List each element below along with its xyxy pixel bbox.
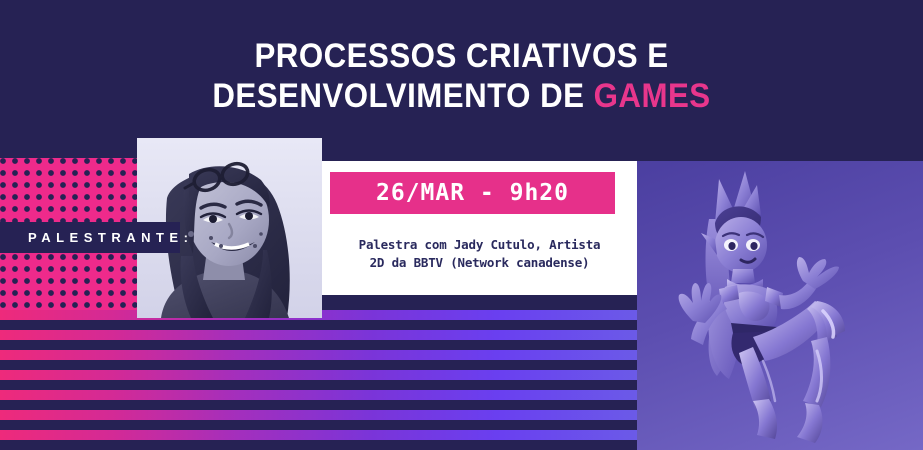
headline-line-1: PROCESSOS CRIATIVOS E xyxy=(37,36,886,76)
page-title: PROCESSOS CRIATIVOS E DESENVOLVIMENTO DE… xyxy=(0,36,923,116)
event-banner: 26/MAR - 9h20 Palestra com Jady Cutulo, … xyxy=(0,0,923,450)
headline-accent-games: GAMES xyxy=(594,77,711,115)
date-badge-text: 26/MAR - 9h20 xyxy=(376,180,569,206)
description-line-2: 2D da BBTV (Network canadense) xyxy=(322,254,637,272)
speaker-label-band: PALESTRANTE: xyxy=(0,222,180,253)
speaker-label: PALESTRANTE: xyxy=(0,230,193,245)
event-description: Palestra com Jady Cutulo, Artista 2D da … xyxy=(322,236,637,272)
game-character-illustration xyxy=(637,161,923,450)
date-badge: 26/MAR - 9h20 xyxy=(330,172,615,214)
stripes-mask xyxy=(0,310,637,450)
headline-line-2: DESENVOLVIMENTO DE GAMES xyxy=(37,76,886,116)
headline-line-2-prefix: DESENVOLVIMENTO DE xyxy=(212,77,593,115)
description-line-1: Palestra com Jady Cutulo, Artista xyxy=(322,236,637,254)
horizontal-stripes-pattern xyxy=(0,310,637,450)
